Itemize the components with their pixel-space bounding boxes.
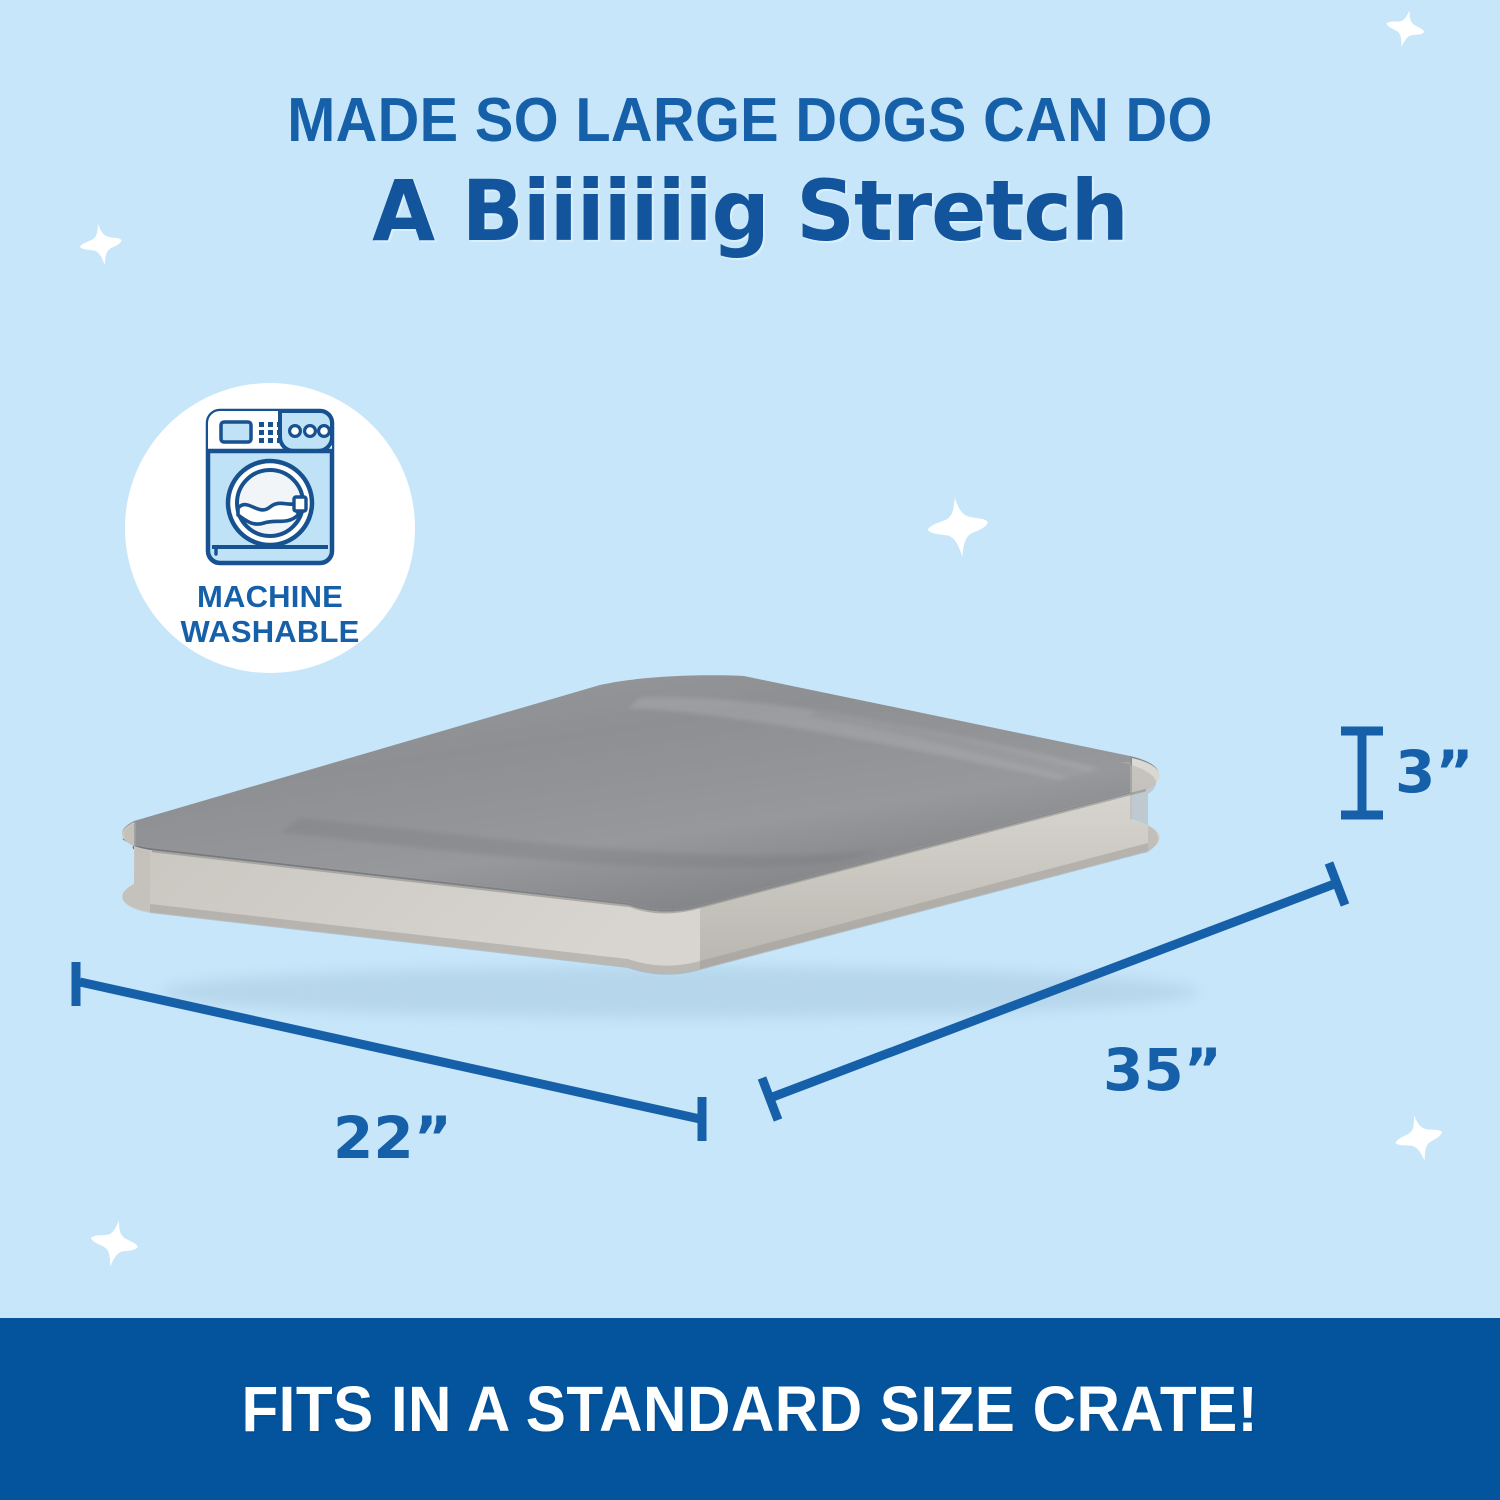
star-top-right-icon	[1380, 4, 1431, 55]
headline-block: MADE SO LARGE DOGS CAN DO A Biiiiiiig St…	[0, 88, 1500, 258]
dimension-label-height: 3”	[1395, 738, 1473, 806]
star-bottom-right-icon	[1388, 1108, 1450, 1170]
dimension-label-length: 35”	[1103, 1036, 1222, 1104]
product-infographic: MADE SO LARGE DOGS CAN DO A Biiiiiiig St…	[0, 0, 1500, 1500]
page-title: A Biiiiiiig Stretch	[23, 164, 1478, 258]
star-center-icon	[922, 492, 995, 565]
dimension-label-width: 22”	[333, 1104, 452, 1172]
star-bottom-left-icon	[83, 1213, 145, 1275]
product-image	[0, 600, 1350, 1070]
headline-eyebrow: MADE SO LARGE DOGS CAN DO	[53, 88, 1448, 154]
banner-text: FITS IN A STANDARD SIZE CRATE!	[242, 1372, 1259, 1446]
bottom-banner: FITS IN A STANDARD SIZE CRATE!	[0, 1318, 1500, 1500]
washing-machine-icon	[202, 407, 338, 567]
